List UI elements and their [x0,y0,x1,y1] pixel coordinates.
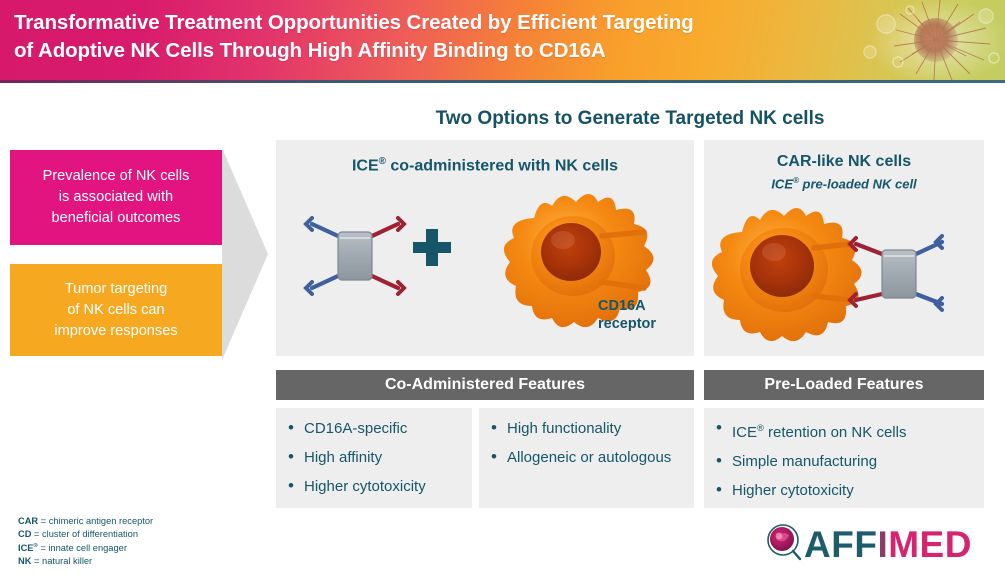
bullet-list: CD16A-specific High affinity Higher cyto… [288,418,466,497]
legend-definition: = innate cell engager [38,543,127,553]
callout-prevalence-line-3: beneficial outcomes [43,208,190,229]
callout-tumor-line-3: improve responses [54,321,177,342]
cd16a-label-line-2: receptor [598,315,656,333]
list-item-post: retention on NK cells [764,424,907,441]
panel-co-administered-heading-pre: ICE [352,157,379,174]
list-item-pre: ICE [732,424,757,441]
bullet-box-pre-loaded: ICE® retention on NK cells Simple manufa… [704,408,984,508]
legend-abbr: NK [18,556,31,566]
callout-box-tumor-targeting: Tumor targeting of NK cells can improve … [10,264,222,356]
panel-car-like-heading: CAR-like NK cells [704,140,984,172]
registered-mark: ® [379,156,386,167]
bullet-list: ICE® retention on NK cells Simple manufa… [716,418,978,501]
legend-abbr: ICE [18,543,34,553]
nk-cell-preloaded-icon [712,208,862,341]
page-title-line-1: Transformative Treatment Opportunities C… [14,9,894,37]
list-item: Higher cytotoxicity [716,480,978,501]
logo-part-aff: AFF [804,524,877,565]
callout-box-prevalence: Prevalence of NK cells is associated wit… [10,150,222,245]
panel-co-administered-heading: ICE® co-administered with NK cells [276,140,694,176]
affimed-logo: AFFIMED [762,521,992,569]
legend-row: NK = natural killer [18,555,153,568]
right-chevron-arrow-icon [222,148,270,360]
ice-engager-molecule-icon [850,236,942,310]
affimed-cell-magnifier-icon [762,521,806,565]
logo-part-med: MED [888,524,972,565]
cd16a-label-line-1: CD16A [598,297,656,315]
page-title-line-2: of Adoptive NK Cells Through High Affini… [14,37,894,65]
list-item: Allogeneic or autologous [491,447,688,468]
legend-definition: = natural killer [31,556,92,566]
callout-tumor-line-1: Tumor targeting [54,279,177,300]
legend-row: ICE® = innate cell engager [18,540,153,555]
legend-row: CD = cluster of differentiation [18,528,153,541]
callout-prevalence-line-1: Prevalence of NK cells [43,166,190,187]
section-title: Two Options to Generate Targeted NK cell… [276,108,984,130]
affimed-wordmark: AFFIMED [804,523,972,567]
abbreviation-legend: CAR = chimeric antigen receptor CD = clu… [18,515,153,567]
page-title: Transformative Treatment Opportunities C… [14,9,894,65]
header-divider [0,80,1005,83]
registered-mark: ® [757,423,764,433]
callout-tumor-line-2: of NK cells can [54,300,177,321]
list-item: Higher cytotoxicity [288,476,466,497]
bullet-box-co-administered-col-1: CD16A-specific High affinity Higher cyto… [276,408,472,508]
header-banner: Transformative Treatment Opportunities C… [0,0,1005,80]
list-item: High affinity [288,447,466,468]
plus-icon [413,229,451,266]
logo-part-i: I [877,524,888,565]
legend-row: CAR = chimeric antigen receptor [18,515,153,528]
panel-co-administered-heading-post: co-administered with NK cells [386,157,618,174]
legend-definition: = chimeric antigen receptor [38,516,153,526]
diagram-car-like [704,186,984,348]
list-item: Simple manufacturing [716,451,978,472]
list-item: ICE® retention on NK cells [716,418,978,443]
bullet-box-co-administered-col-2: High functionality Allogeneic or autolog… [479,408,694,508]
cd16a-receptor-label: CD16A receptor [598,297,656,333]
legend-abbr: CAR [18,516,38,526]
ice-engager-molecule-icon [306,218,404,294]
list-item: High functionality [491,418,688,439]
feature-bar-pre-loaded: Pre-Loaded Features [704,370,984,400]
bullet-list: High functionality Allogeneic or autolog… [491,418,688,468]
legend-abbr: CD [18,529,31,539]
legend-definition: = cluster of differentiation [31,529,138,539]
feature-bar-co-administered: Co-Administered Features [276,370,694,400]
list-item: CD16A-specific [288,418,466,439]
callout-prevalence-line-2: is associated with [43,187,190,208]
